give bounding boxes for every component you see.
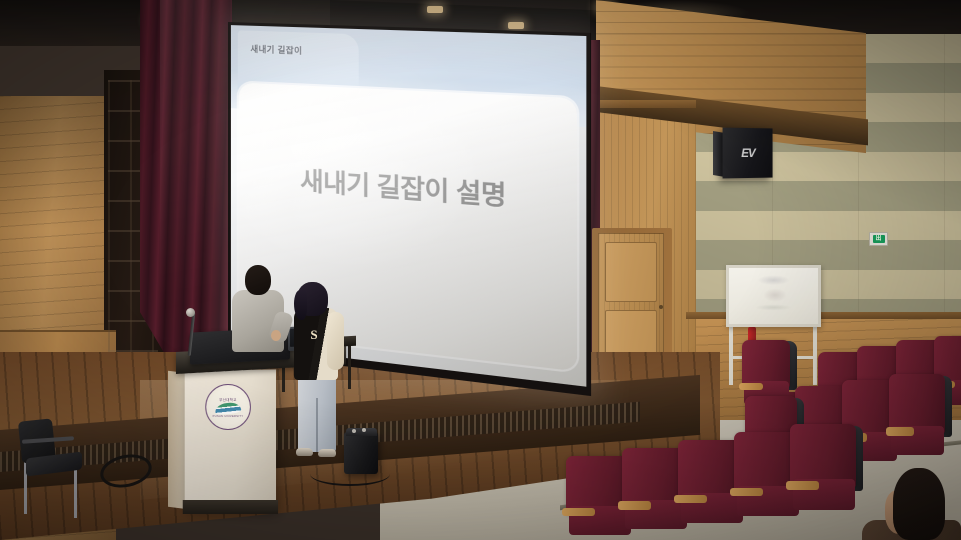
- university-emblem: 부산대학교 PUSAN UNIVERSITY: [205, 384, 251, 430]
- door-knob[interactable]: [659, 305, 663, 309]
- auditorium-seat[interactable]: [889, 374, 945, 466]
- ceiling-light: [508, 22, 524, 29]
- presenter-left-hand: [271, 330, 281, 341]
- door-panel-upper: [605, 242, 657, 302]
- seat-armrest: [674, 495, 707, 503]
- microphone-icon: [186, 308, 195, 317]
- whiteboard[interactable]: [726, 265, 821, 327]
- presenter-right-shoe-right: [318, 449, 336, 457]
- seat-back: [889, 374, 945, 433]
- seat-armrest: [730, 488, 763, 497]
- audience-head: [893, 468, 945, 540]
- emblem-bottom-text: PUSAN UNIVERSITY: [213, 414, 244, 417]
- seat-armrest: [739, 383, 763, 390]
- amplifier-knob[interactable]: [362, 428, 366, 432]
- auditorium-seat[interactable]: [790, 424, 856, 522]
- auditorium-presentation-photo: EV 出 새내기 길잡이 새내기 길잡이 설명: [0, 0, 961, 540]
- varsity-jacket-letter: S: [308, 328, 320, 342]
- table-leg: [348, 345, 351, 389]
- seat-armrest: [886, 427, 914, 435]
- seat-armrest: [786, 481, 819, 490]
- presenter-right-hair: [294, 290, 307, 320]
- podium-base: [183, 500, 278, 514]
- presenter-right-shoe-left: [296, 448, 313, 456]
- wall-speaker: EV: [723, 128, 773, 179]
- ceiling-light: [427, 6, 443, 13]
- presenter-left-head: [245, 265, 271, 295]
- chair-leg: [74, 468, 77, 518]
- ev-logo: EV: [741, 146, 754, 160]
- exit-sign: 出: [869, 232, 888, 246]
- amplifier-knob[interactable]: [352, 429, 356, 433]
- seat-back: [742, 340, 790, 387]
- presenter-right-leg-seam: [316, 398, 318, 452]
- emblem-top-text: 부산대학교: [219, 396, 236, 401]
- emblem-wave-icon: [215, 401, 242, 415]
- portable-amplifier: [344, 432, 378, 474]
- seat-armrest: [618, 501, 651, 509]
- seat-armrest: [562, 508, 595, 516]
- slide-tab-label: 새내기 길잡이: [250, 42, 302, 56]
- whiteboard-erased-marks: [735, 274, 812, 318]
- exit-sign-label: 出: [873, 235, 885, 243]
- seat-back: [790, 424, 856, 487]
- presenter-right-sleeve: [327, 312, 344, 370]
